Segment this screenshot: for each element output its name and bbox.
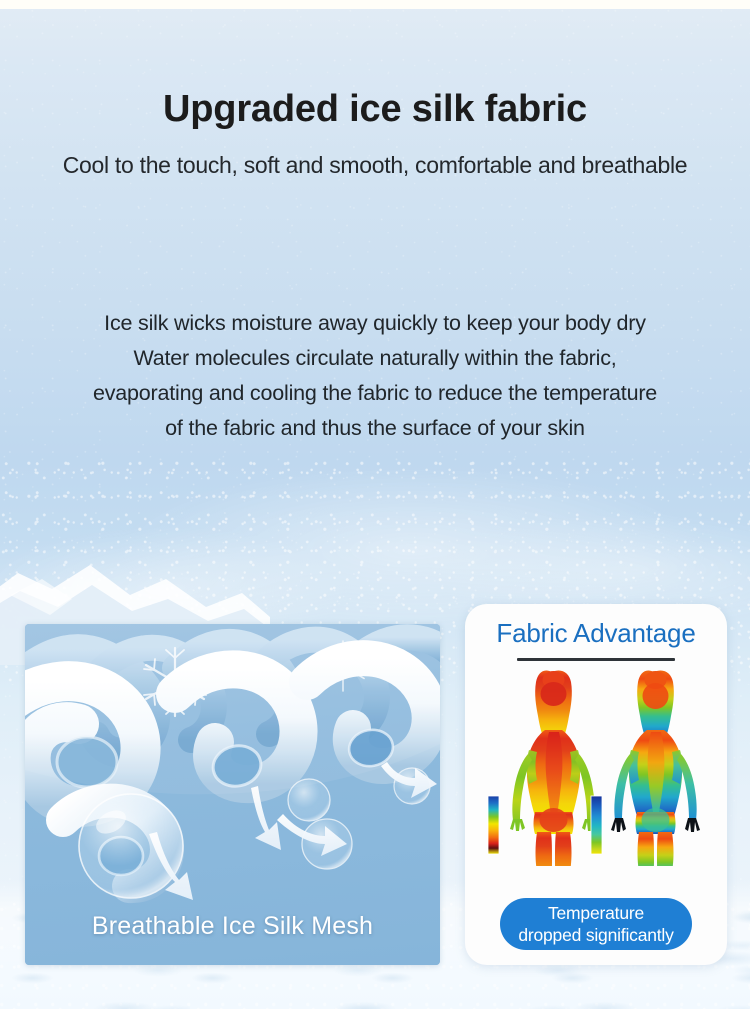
thermal-comparison-area <box>465 666 727 866</box>
thermal-figure-cool <box>611 670 700 866</box>
badge-line-2: dropped significantly <box>518 924 673 946</box>
fabric-advantage-title: Fabric Advantage <box>465 618 727 649</box>
page-title: Upgraded ice silk fabric <box>0 88 750 131</box>
description-paragraph: Ice silk wicks moisture away quickly to … <box>0 306 750 446</box>
thermal-figure-warm <box>510 670 597 866</box>
mesh-panel-caption: Breathable Ice Silk Mesh <box>25 912 440 941</box>
breathable-mesh-panel: Breathable Ice Silk Mesh <box>25 624 440 965</box>
description-line: Ice silk wicks moisture away quickly to … <box>0 306 750 341</box>
page-subtitle: Cool to the touch, soft and smooth, comf… <box>0 152 750 179</box>
warm-scale-bar <box>488 796 499 854</box>
cool-scale-bar <box>591 796 602 854</box>
ice-silk-fabric-promo-page: Upgraded ice silk fabric Cool to the tou… <box>0 0 750 1009</box>
fabric-advantage-card: Fabric Advantage <box>465 604 727 965</box>
badge-line-1: Temperature <box>548 902 644 924</box>
top-white-strip <box>0 0 750 9</box>
description-line: evaporating and cooling the fabric to re… <box>0 376 750 411</box>
title-divider <box>517 658 675 661</box>
description-line: Water molecules circulate naturally with… <box>0 341 750 376</box>
thermal-scan-illustration <box>465 666 727 866</box>
temperature-dropped-badge: Temperature dropped significantly <box>500 898 692 950</box>
description-line: of the fabric and thus the surface of yo… <box>0 411 750 446</box>
